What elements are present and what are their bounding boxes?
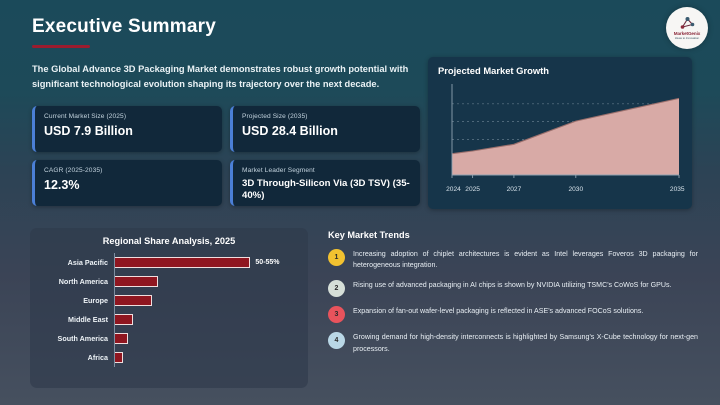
stat-card-projected-size: Projected Size (2035) USD 28.4 Billion [230, 106, 420, 152]
bar-fill [115, 352, 123, 363]
stat-card-current-market-size: Current Market Size (2025) USD 7.9 Billi… [32, 106, 222, 152]
bar-track: 50-55% [114, 253, 298, 272]
x-tick-label: 2027 [507, 186, 522, 193]
title-underline-accent [32, 45, 90, 48]
trend-text: Expansion of fan-out wafer-level packagi… [353, 306, 643, 317]
trend-text: Increasing adoption of chiplet architect… [353, 249, 698, 271]
stat-label: Current Market Size (2025) [44, 113, 212, 120]
stat-label: Market Leader Segment [242, 167, 410, 174]
x-tick-label: 2025 [465, 186, 480, 193]
x-tick-label: 2030 [568, 186, 583, 193]
chart-title: Regional Share Analysis, 2025 [40, 236, 298, 246]
trend-item: 3Expansion of fan-out wafer-level packag… [328, 306, 700, 323]
bar-row: Middle East [40, 310, 298, 329]
bar-track [114, 348, 298, 367]
area-chart-plot [438, 80, 682, 185]
trend-item: 2Rising use of advanced packaging in AI … [328, 280, 700, 297]
trend-item: 1Increasing adoption of chiplet architec… [328, 249, 700, 271]
x-tick-label: 2024 [446, 186, 461, 193]
trend-number-badge: 4 [328, 332, 345, 349]
bar-row: Africa [40, 348, 298, 367]
trend-item: 4Growing demand for high-density interco… [328, 332, 700, 354]
bar-track [114, 310, 298, 329]
bar-category-label: Asia Pacific [40, 258, 114, 267]
stat-card-cagr: CAGR (2025-2035) 12.3% [32, 160, 222, 206]
page-title: Executive Summary [32, 16, 216, 38]
stat-card-market-leader-segment: Market Leader Segment 3D Through-Silicon… [230, 160, 420, 206]
bar-fill [115, 314, 133, 325]
area-chart-x-axis-labels: 20242025202720302035 [438, 186, 682, 198]
bar-track [114, 291, 298, 310]
bar-category-label: Europe [40, 296, 114, 305]
trend-text: Growing demand for high-density intercon… [353, 332, 698, 354]
stat-value: USD 7.9 Billion [44, 124, 212, 139]
bar-category-label: Africa [40, 353, 114, 362]
company-logo: MarketGenix Ideas to Innovation [666, 7, 708, 49]
bar-row: Asia Pacific50-55% [40, 253, 298, 272]
trend-text: Rising use of advanced packaging in AI c… [353, 280, 671, 291]
bar-fill [115, 295, 152, 306]
stat-value: USD 28.4 Billion [242, 124, 410, 139]
trends-list: 1Increasing adoption of chiplet architec… [328, 249, 700, 355]
trend-number-badge: 1 [328, 249, 345, 266]
bar-category-label: North America [40, 277, 114, 286]
stat-value: 12.3% [44, 178, 212, 193]
header: Executive Summary [32, 16, 216, 48]
bar-track [114, 272, 298, 291]
bar-fill [115, 276, 158, 287]
bar-fill [115, 257, 250, 268]
regional-share-panel: Regional Share Analysis, 2025 Asia Pacif… [30, 228, 308, 388]
area-chart-svg [438, 80, 682, 185]
bar-row: North America [40, 272, 298, 291]
trend-number-badge: 3 [328, 306, 345, 323]
stat-value: 3D Through-Silicon Via (3D TSV) (35-40%) [242, 178, 410, 201]
network-node-icon [679, 16, 696, 31]
bar-row: South America [40, 329, 298, 348]
key-market-trends-section: Key Market Trends 1Increasing adoption o… [328, 230, 700, 364]
section-title: Key Market Trends [328, 230, 700, 240]
chart-title: Projected Market Growth [438, 65, 682, 76]
stat-label: Projected Size (2035) [242, 113, 410, 120]
bar-category-label: Middle East [40, 315, 114, 324]
bar-category-label: South America [40, 334, 114, 343]
bar-track [114, 329, 298, 348]
bar-fill [115, 333, 128, 344]
bar-data-label: 50-55% [255, 259, 279, 266]
summary-subtitle: The Global Advance 3D Packaging Market d… [32, 62, 424, 92]
trend-number-badge: 2 [328, 280, 345, 297]
projected-market-growth-panel: Projected Market Growth 2024202520272030… [428, 57, 692, 209]
horizontal-bar-chart: Asia Pacific50-55%North AmericaEuropeMid… [40, 253, 298, 367]
logo-tagline: Ideas to Innovation [675, 36, 699, 40]
stat-label: CAGR (2025-2035) [44, 167, 212, 174]
x-tick-label: 2035 [670, 186, 685, 193]
bar-row: Europe [40, 291, 298, 310]
